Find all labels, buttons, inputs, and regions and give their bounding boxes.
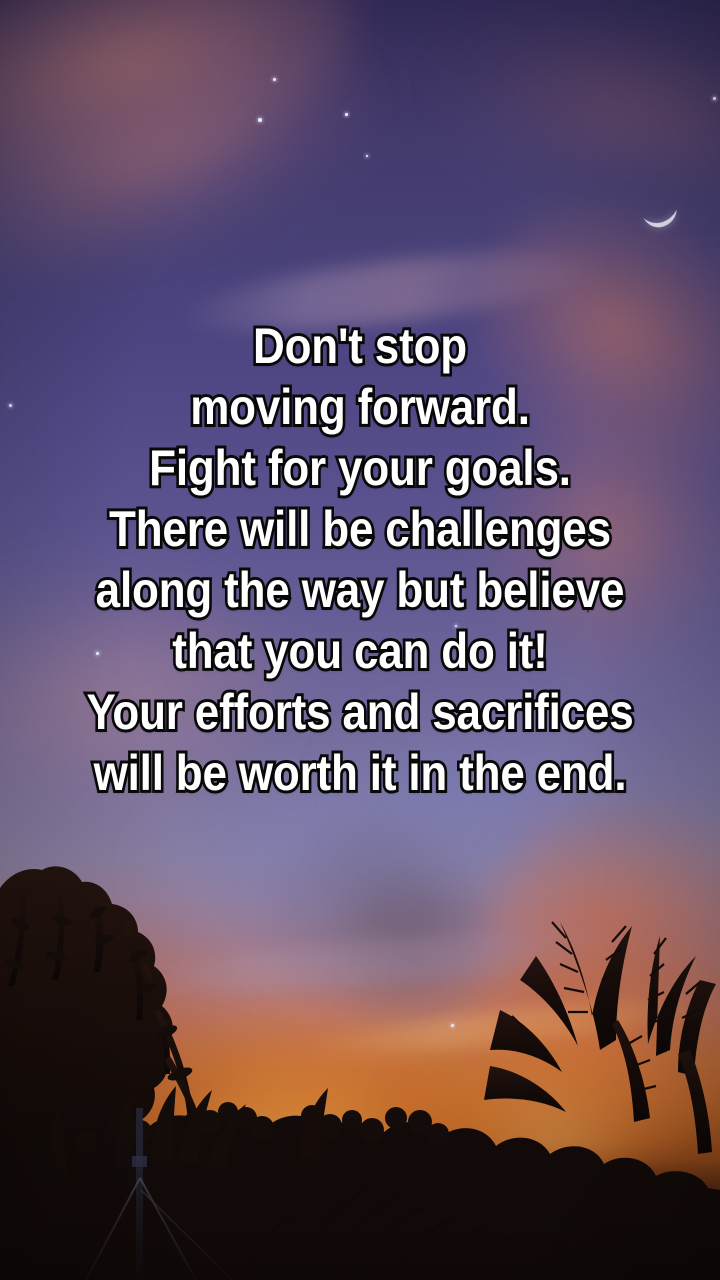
quote-line-3: Fight for your goals.	[64, 438, 655, 499]
quote-text-block: Don't stop moving forward. Fight for you…	[0, 316, 720, 804]
star-icon	[345, 113, 348, 116]
quote-line-4: There will be challenges	[64, 499, 655, 560]
quote-line-8: will be worth it in the end.	[64, 743, 655, 804]
quote-line-1: Don't stop	[64, 316, 655, 377]
star-icon	[366, 155, 368, 157]
quote-line-5: along the way but believe	[64, 560, 655, 621]
quote-line-6: that you can do it!	[64, 621, 655, 682]
star-icon	[713, 97, 716, 100]
foreground-dark-band	[0, 1160, 720, 1280]
star-icon	[451, 1024, 454, 1027]
star-icon	[273, 78, 276, 81]
quote-line-7: Your efforts and sacrifices	[64, 682, 655, 743]
quote-line-2: moving forward.	[64, 377, 655, 438]
star-icon	[258, 118, 262, 122]
wallpaper-canvas: Don't stop moving forward. Fight for you…	[0, 0, 720, 1280]
